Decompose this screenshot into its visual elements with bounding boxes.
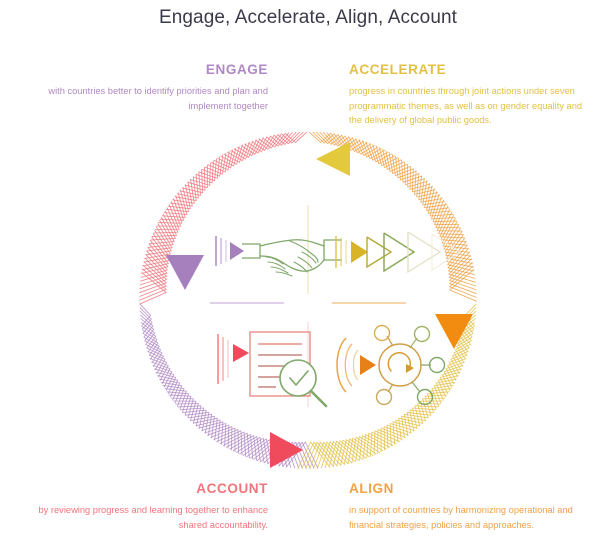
quadrant-heading-account: ACCOUNT	[22, 481, 268, 497]
page-title: Engage, Accelerate, Align, Account	[0, 4, 616, 32]
quadrant-text-account: ACCOUNT by reviewing progress and learni…	[22, 481, 268, 532]
four-quadrant-cycle-diagram	[128, 132, 488, 477]
arrowhead-account	[270, 432, 303, 468]
quadrant-body-align: in support of countries by harmonizing o…	[349, 503, 595, 532]
arrowhead-engage	[166, 255, 204, 290]
handshake-icon	[216, 236, 342, 276]
quadrant-text-engage: ENGAGE with countries better to identify…	[22, 62, 268, 113]
quadrant-text-accelerate: ACCELERATE progress in countries through…	[349, 62, 595, 128]
quadrant-heading-accelerate: ACCELERATE	[349, 62, 595, 78]
document-magnifier-icon	[218, 332, 326, 406]
arrowhead-accelerate	[316, 142, 350, 176]
arc-account	[139, 132, 307, 304]
quadrant-heading-engage: ENGAGE	[22, 62, 268, 78]
quadrant-heading-align: ALIGN	[349, 481, 595, 497]
network-gear-icon	[337, 326, 445, 405]
quadrant-body-engage: with countries better to identify priori…	[22, 84, 268, 113]
quadrant-body-accelerate: progress in countries through joint acti…	[349, 84, 595, 128]
quadrant-body-account: by reviewing progress and learning toget…	[22, 503, 268, 532]
quadrant-text-align: ALIGN in support of countries by harmoni…	[349, 481, 595, 532]
